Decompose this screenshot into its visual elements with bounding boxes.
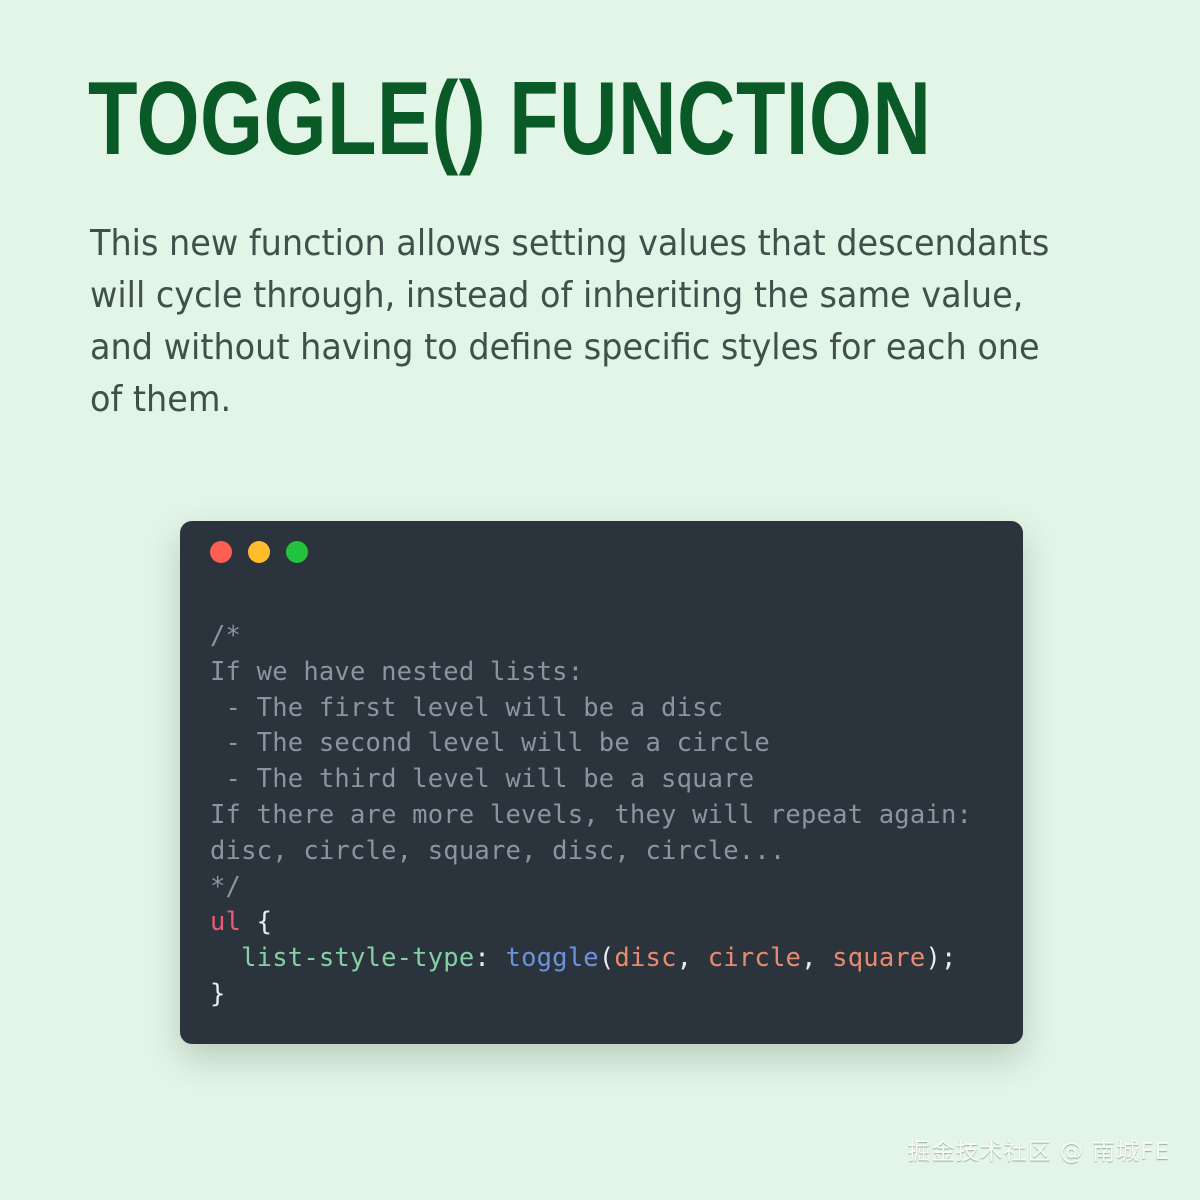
code-value-circle: circle <box>708 943 801 973</box>
code-comma-2: , <box>801 943 832 973</box>
code-function-toggle: toggle <box>506 943 599 973</box>
maximize-dot-icon[interactable] <box>286 541 308 563</box>
code-window-titlebar <box>180 521 1023 557</box>
code-comment-line-1: If we have nested lists: <box>210 657 583 687</box>
code-selector-ul: ul <box>210 907 241 937</box>
code-close-paren-semicolon: ); <box>926 943 957 973</box>
code-open-paren: ( <box>599 943 615 973</box>
code-comment-line-2: - The first level will be a disc <box>210 693 723 723</box>
code-comment-close: */ <box>210 872 241 902</box>
code-comment-line-3: - The second level will be a circle <box>210 728 770 758</box>
watermark: 掘金技术社区 @ 南城FE <box>908 1132 1170 1166</box>
close-dot-icon[interactable] <box>210 541 232 563</box>
code-comment-open: /* <box>210 621 241 651</box>
code-value-disc: disc <box>614 943 676 973</box>
code-block: /* If we have nested lists: - The first … <box>180 557 1023 1013</box>
code-indent <box>210 943 241 973</box>
code-close-brace: } <box>210 979 226 1009</box>
code-open-brace: { <box>241 907 272 937</box>
code-colon: : <box>474 943 505 973</box>
minimize-dot-icon[interactable] <box>248 541 270 563</box>
description-paragraph: This new function allows setting values … <box>90 218 1053 426</box>
code-comment-line-5: If there are more levels, they will repe… <box>210 800 972 830</box>
page-title: TOGGLE() FUNCTION <box>88 66 931 172</box>
code-property-list-style-type: list-style-type <box>241 943 474 973</box>
code-comment-line-4: - The third level will be a square <box>210 764 754 794</box>
code-value-square: square <box>832 943 925 973</box>
code-comma-1: , <box>677 943 708 973</box>
slide-root: TOGGLE() FUNCTION This new function allo… <box>0 0 1200 1200</box>
code-window: /* If we have nested lists: - The first … <box>180 521 1023 1044</box>
code-comment-line-6: disc, circle, square, disc, circle... <box>210 836 785 866</box>
